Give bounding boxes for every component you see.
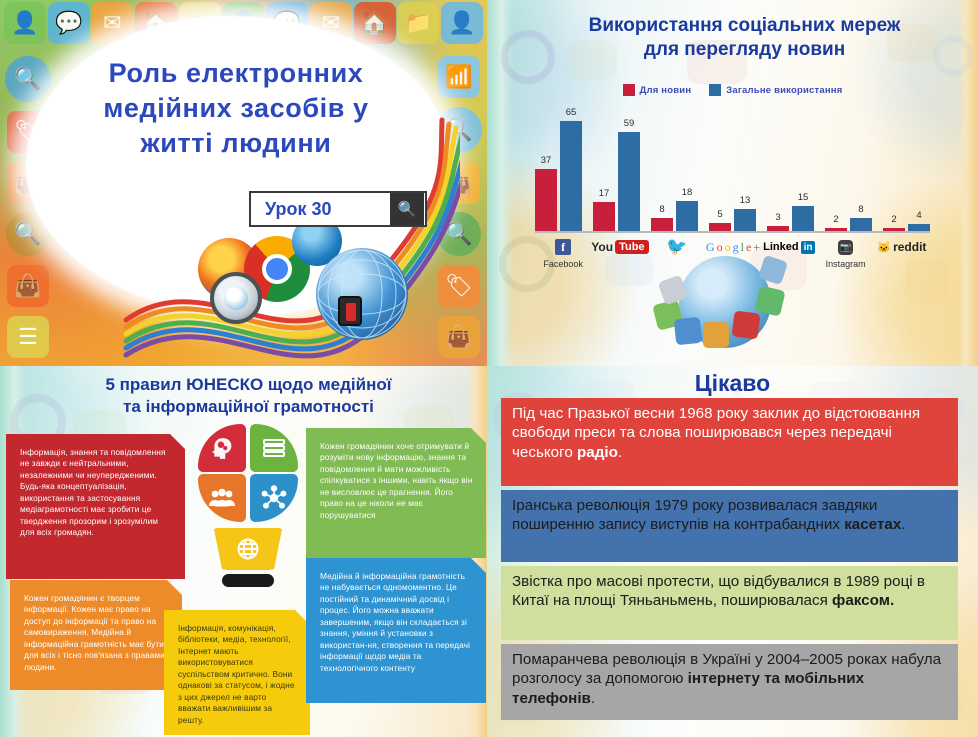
network-icon — [250, 474, 298, 522]
rule-card-2[interactable]: Кожен громадянин є творцем інформації. К… — [10, 580, 182, 690]
books-icon — [250, 424, 298, 472]
bar-group-instagram: 28 — [825, 218, 872, 231]
title-line-3: житті людини — [40, 126, 432, 161]
bar-groups: 376517598185133152824 — [535, 108, 930, 231]
chart-plot-area: 376517598185133152824 — [535, 108, 930, 233]
bar-group-facebook: 3765 — [535, 121, 582, 231]
home-icon: 🏠 — [354, 2, 396, 44]
bar-value-label: 3 — [775, 212, 780, 223]
slide-unesco-rules[interactable]: 5 правил ЮНЕСКО щодо медійної та інформа… — [0, 366, 487, 737]
bar-linkedin-overall: 15 — [792, 206, 814, 231]
app-tile-icon — [731, 311, 760, 340]
head-gears-icon — [198, 424, 246, 472]
fact-text-run: радіо — [577, 444, 618, 461]
bulb-base-icon — [222, 574, 274, 587]
legend-swatch-news — [623, 84, 635, 96]
bar-value-label: 2 — [833, 214, 838, 225]
bar-value-label: 15 — [798, 192, 809, 203]
fact-text-run: Під час Празької весни 1968 року заклик … — [512, 405, 920, 461]
youtube-logo-icon: YouTube — [591, 238, 648, 256]
slide-social-media-chart[interactable]: Використання соціальних мереж для перегл… — [487, 0, 978, 366]
title-line-2: медійних засобів у — [40, 91, 432, 126]
chart-title-text-1: Використання соціальних мереж — [537, 14, 952, 38]
unesco-title-line-2: та інформаційної грамотності — [34, 396, 463, 418]
x-label-facebook-text: Facebook — [535, 259, 591, 269]
chat-icon: 💬 — [48, 2, 90, 44]
x-label-facebook: f Facebook — [535, 238, 591, 280]
chart-title-text-2: для перегляду новин — [537, 38, 952, 62]
fact-text-run: . — [591, 690, 595, 707]
bar-value-label: 13 — [740, 195, 751, 206]
bar-facebook-news: 37 — [535, 169, 557, 231]
unesco-title-line-1: 5 правил ЮНЕСКО щодо медійної — [34, 374, 463, 396]
bar-reddit-overall: 4 — [908, 224, 930, 231]
slide-deck: 👤 💬 ✉ 🏠 📁 👤 💬 ✉ 🏠 📁 👤 🔍 🏷 👜 🔍 👜 ☰ 📶 🔍 👜 … — [0, 0, 978, 737]
fact-card-iran[interactable]: Іранська революція 1979 року розвивалася… — [501, 490, 958, 562]
bar-group-google+: 513 — [709, 209, 756, 231]
tag-icon: 🏷 — [438, 265, 480, 307]
page-title: Роль електронних медійних засобів у житт… — [40, 56, 432, 161]
page-title: Цікаво — [487, 370, 978, 397]
slide-title[interactable]: 👤 💬 ✉ 🏠 📁 👤 💬 ✉ 🏠 📁 👤 🔍 🏷 👜 🔍 👜 ☰ 📶 🔍 👜 … — [0, 0, 487, 366]
search-bar[interactable]: Урок 30 🔍 — [249, 191, 427, 227]
bar-group-reddit: 24 — [883, 224, 930, 231]
legend-label-overall: Загальне використання — [726, 85, 842, 96]
safari-logo-icon — [210, 272, 262, 324]
bar-value-label: 8 — [659, 204, 664, 215]
globe-network-icon — [316, 248, 408, 340]
app-tile-icon — [703, 322, 729, 348]
bar-facebook-overall: 65 — [560, 121, 582, 231]
fact-text-run: . — [618, 444, 622, 461]
legend-label-news: Для новин — [640, 85, 692, 96]
bar-group-linkedin: 315 — [767, 206, 814, 231]
bar-instagram-overall: 8 — [850, 218, 872, 231]
search-icon: 🔍 — [437, 212, 481, 256]
fact-card-prague[interactable]: Під час Празької весни 1968 року заклик … — [501, 398, 958, 486]
lesson-number-label: Урок 30 — [251, 199, 390, 220]
icon-strip-right: 📶 🔍 👜 🔍 🏷 👜 — [433, 52, 485, 362]
bar-twitter-overall: 18 — [676, 201, 698, 231]
bar-value-label: 2 — [891, 214, 896, 225]
globe-icon — [210, 528, 286, 570]
rule-card-4[interactable]: Кожен громадянин хоче отримувати й розум… — [306, 428, 486, 558]
bar-value-label: 37 — [541, 155, 552, 166]
slide-interesting-facts[interactable]: Цікаво Під час Празької весни 1968 року … — [487, 366, 978, 737]
bar-value-label: 17 — [599, 188, 610, 199]
bar-value-label: 65 — [566, 107, 577, 118]
bar-youtube-overall: 59 — [618, 132, 640, 231]
fact-text-run: . — [901, 516, 905, 533]
bar-twitter-news: 8 — [651, 218, 673, 231]
bar-value-label: 8 — [858, 204, 863, 215]
globe-grid-icon — [316, 248, 408, 340]
bar-google+-news: 5 — [709, 223, 731, 231]
bar-value-label: 5 — [717, 209, 722, 220]
bar-youtube-news: 17 — [593, 202, 615, 231]
bag-icon: 👜 — [7, 265, 49, 307]
app-tile-icon — [754, 285, 785, 316]
rule-card-5[interactable]: Медійна й інформаційна грамотність не на… — [306, 558, 486, 703]
browser-logos-group — [188, 210, 438, 360]
x-label-youtube: YouTube — [591, 238, 648, 280]
chart-title: Використання соціальних мереж для перегл… — [537, 14, 952, 62]
x-label-reddit: 🐱reddit — [874, 238, 930, 280]
bar-value-label: 4 — [916, 210, 921, 221]
search-icon[interactable]: 🔍 — [390, 193, 424, 225]
bar-value-label: 18 — [682, 187, 693, 198]
title-line-1: Роль електронних — [40, 56, 432, 91]
lightbulb-infographic — [196, 424, 300, 602]
bar-group-youtube: 1759 — [593, 132, 640, 231]
app-tile-icon — [673, 317, 702, 346]
list-add-icon: ☰ — [7, 316, 49, 358]
fact-text-run: Іранська революція 1979 року розвивалася… — [512, 497, 877, 533]
page-title: 5 правил ЮНЕСКО щодо медійної та інформа… — [34, 374, 463, 418]
people-icon — [198, 474, 246, 522]
user-icon: 👤 — [441, 2, 483, 44]
bar-value-label: 59 — [624, 118, 635, 129]
reddit-logo-icon: 🐱reddit — [874, 238, 930, 256]
globe-with-apps-image — [653, 244, 813, 352]
fact-text-run: факсом. — [832, 592, 894, 609]
rule-card-1[interactable]: Інформація, знання та повідомлення не за… — [6, 434, 185, 579]
legend-item-overall: Загальне використання — [709, 84, 842, 96]
x-label-instagram-text: Instagram — [817, 259, 873, 269]
x-label-instagram: 📷 Instagram — [817, 238, 873, 280]
fact-card-orange[interactable]: Помаранчева революція в Україні у 2004–2… — [501, 644, 958, 720]
wifi-icon: 📶 — [438, 56, 480, 98]
legend-swatch-overall — [709, 84, 721, 96]
fact-text-run: касетах — [844, 516, 901, 533]
bag-icon: 👜 — [438, 316, 480, 358]
bar-google+-overall: 13 — [734, 209, 756, 231]
user-icon: 👤 — [4, 2, 46, 44]
chart-legend: Для новин Загальне використання — [487, 84, 978, 96]
facebook-logo-icon: f — [535, 238, 591, 256]
bar-group-twitter: 818 — [651, 201, 698, 231]
instagram-logo-icon: 📷 — [817, 238, 873, 256]
folder-icon: 📁 — [397, 2, 439, 44]
legend-item-news: Для новин — [623, 84, 692, 96]
chart-x-axis — [535, 231, 930, 233]
fact-card-china[interactable]: Звістка про масові протести, що відбувал… — [501, 566, 958, 640]
rule-card-3[interactable]: Інформація, комунікація, бібліотеки, мед… — [164, 610, 310, 735]
